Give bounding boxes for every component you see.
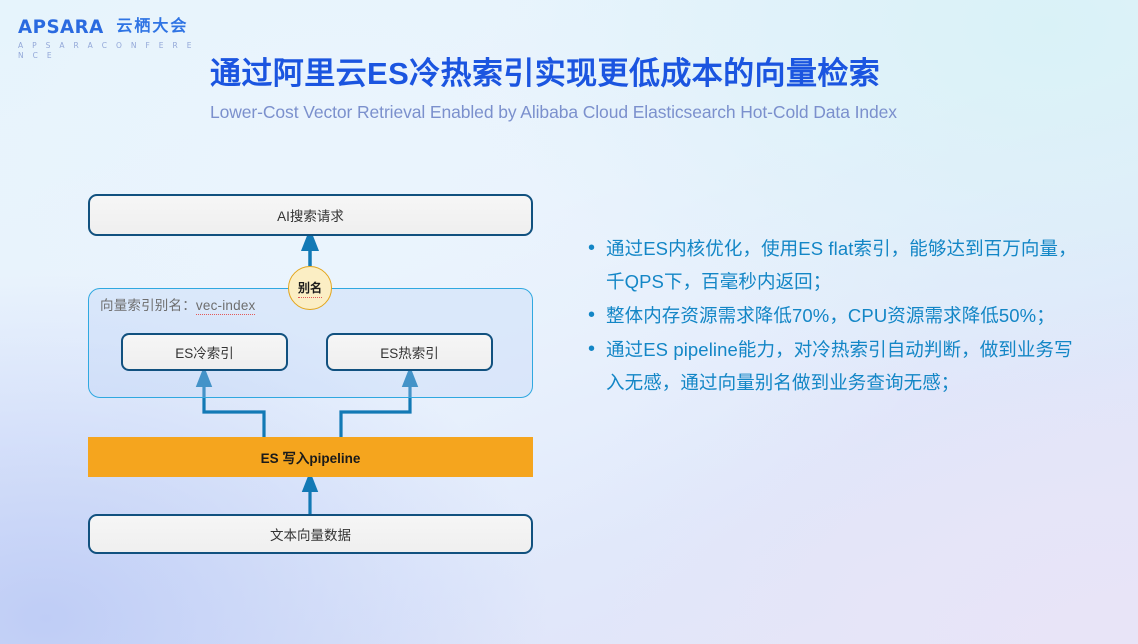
node-es-write-pipeline-label: ES 写入pipeline [261, 447, 361, 467]
alias-value: vec-index [196, 298, 256, 315]
bullet-item: • 通过ES内核优化，使用ES flat索引，能够达到百万向量，千QPS下，百毫… [588, 232, 1088, 298]
alias-badge-label: 别名 [298, 279, 322, 298]
slide-canvas: APSARA 云栖大会 A P S A R A C O N F E R E N … [0, 0, 1138, 644]
node-es-write-pipeline[interactable]: ES 写入pipeline [88, 437, 533, 477]
bullet-item: • 通过ES pipeline能力，对冷热索引自动判断，做到业务写入无感，通过向… [588, 333, 1088, 399]
bullet-dot-icon: • [588, 299, 606, 332]
bullet-item: • 整体内存资源需求降低70%，CPU资源需求降低50%； [588, 299, 1088, 332]
node-es-cold-index[interactable]: ES冷索引 [121, 333, 288, 371]
bullet-list: • 通过ES内核优化，使用ES flat索引，能够达到百万向量，千QPS下，百毫… [588, 232, 1088, 400]
bullet-text: 整体内存资源需求降低70%，CPU资源需求降低50%； [606, 299, 1088, 332]
bullet-text: 通过ES内核优化，使用ES flat索引，能够达到百万向量，千QPS下，百毫秒内… [606, 232, 1088, 298]
node-es-hot-index-label: ES热索引 [380, 342, 439, 362]
alias-label-prefix: 向量索引别名： [100, 298, 196, 313]
node-text-vector-data-label: 文本向量数据 [270, 524, 351, 544]
alias-badge[interactable]: 别名 [288, 266, 332, 310]
bullet-text: 通过ES pipeline能力，对冷热索引自动判断，做到业务写入无感，通过向量别… [606, 333, 1088, 399]
node-es-cold-index-label: ES冷索引 [175, 342, 234, 362]
node-text-vector-data[interactable]: 文本向量数据 [88, 514, 533, 554]
vector-index-alias-label: 向量索引别名：vec-index [100, 294, 255, 314]
node-ai-search-request-label: AI搜索请求 [277, 205, 344, 225]
node-es-hot-index[interactable]: ES热索引 [326, 333, 493, 371]
bullet-dot-icon: • [588, 333, 606, 366]
node-ai-search-request[interactable]: AI搜索请求 [88, 194, 533, 236]
bullet-dot-icon: • [588, 232, 606, 265]
